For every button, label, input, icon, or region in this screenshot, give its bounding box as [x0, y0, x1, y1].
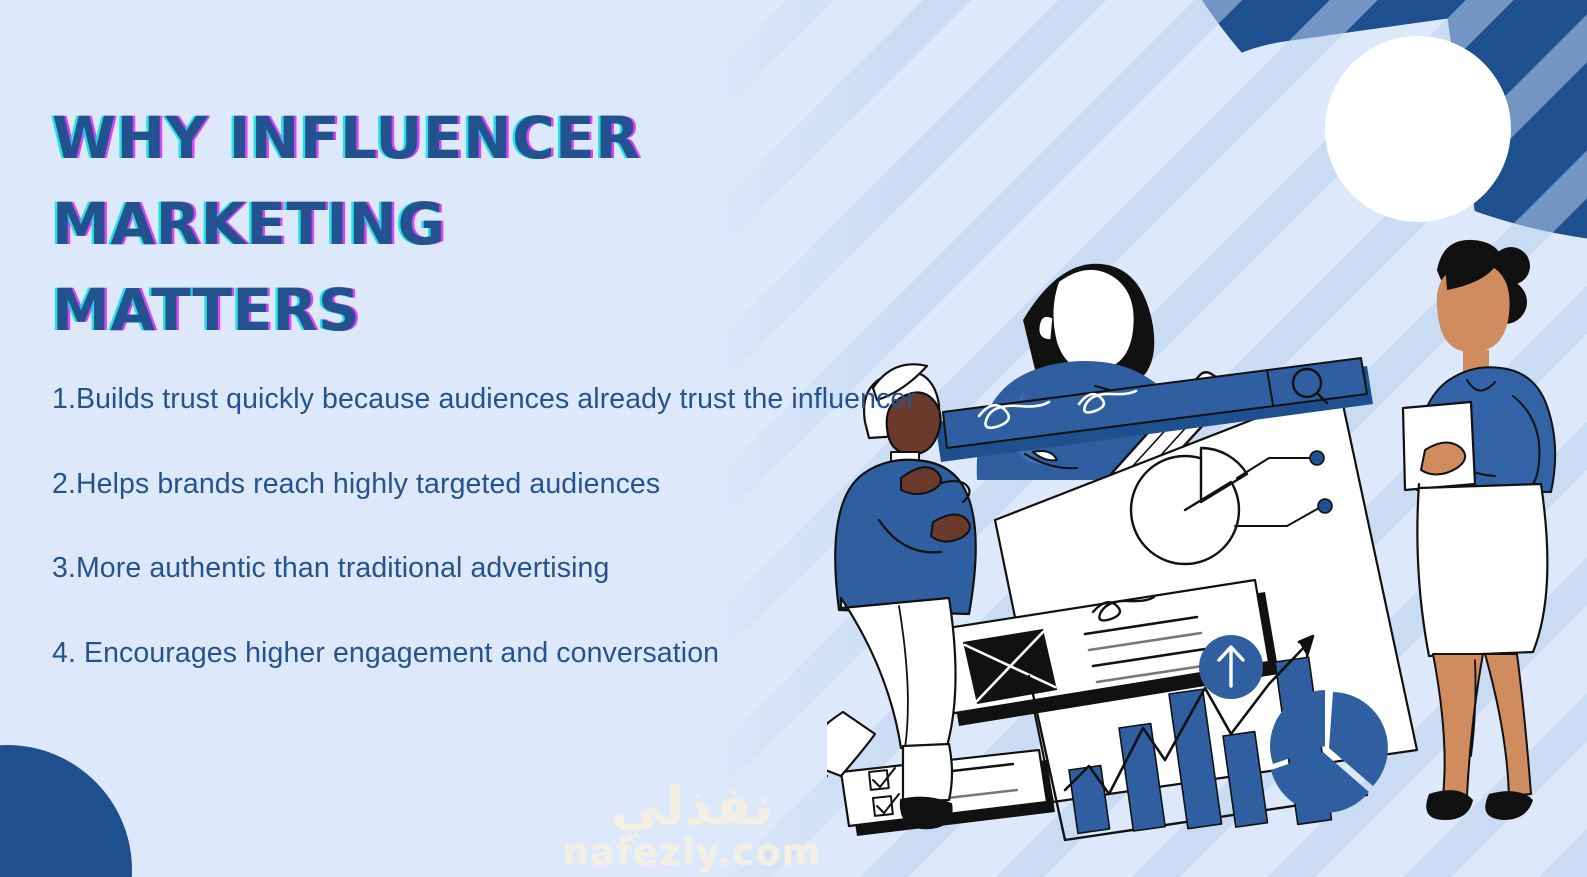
list-item: 4. Encourages higher engagement and conv…: [52, 633, 932, 673]
page-title: WHY INFLUENCER MARKETING MATTERS: [52, 96, 932, 353]
list-item: 1.Builds trust quickly because audiences…: [52, 379, 932, 419]
figure-woman-with-clipboard: [1403, 240, 1555, 820]
list-item: 2.Helps brands reach highly targeted aud…: [52, 464, 932, 504]
up-arrow-badge: [1199, 635, 1263, 699]
benefits-list: 1.Builds trust quickly because audiences…: [52, 379, 932, 673]
bottom-left-circle-decoration: [0, 745, 132, 877]
slide-canvas: WHY INFLUENCER MARKETING MATTERS 1.Build…: [0, 0, 1587, 877]
text-content-column: WHY INFLUENCER MARKETING MATTERS 1.Build…: [52, 96, 932, 673]
analytics-illustration: [827, 190, 1587, 870]
list-item: 3.More authentic than traditional advert…: [52, 548, 932, 588]
